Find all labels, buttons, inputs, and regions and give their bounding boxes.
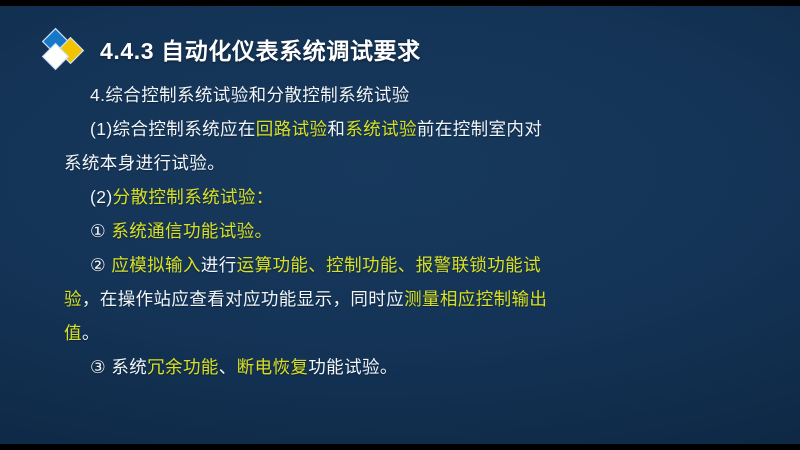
body-text: 和: [327, 119, 345, 139]
body-text: 。: [82, 323, 100, 343]
highlighted-text: 应模拟输入: [111, 255, 201, 275]
highlighted-text: 冗余功能: [147, 357, 219, 377]
body-line: ② 应模拟输入进行运算功能、控制功能、报警联锁功能试: [64, 248, 754, 282]
highlighted-text: 系统试验: [345, 119, 417, 139]
three-diamond-logo-icon: [42, 27, 94, 71]
body-line: 验，在操作站应查看对应功能显示，同时应测量相应控制输出: [64, 282, 754, 316]
body-text: (1)综合控制系统应在: [90, 119, 256, 139]
highlighted-text: 验: [64, 289, 82, 309]
body-text: ③ 系统: [90, 357, 147, 377]
body-line: (2)分散控制系统试验：: [64, 180, 754, 214]
body-text: 、: [219, 357, 237, 377]
highlighted-text: 回路试验: [256, 119, 328, 139]
highlighted-text: 测量相应控制输出: [404, 289, 547, 309]
body-text: 系统本身进行试验。: [64, 153, 225, 173]
slide-canvas: 4.4.3 自动化仪表系统调试要求 4.综合控制系统试验和分散控制系统试验(1)…: [0, 0, 800, 450]
body-line: 系统本身进行试验。: [64, 146, 754, 180]
page-title: 4.4.3 自动化仪表系统调试要求: [100, 32, 421, 66]
body-text: 进行: [201, 255, 237, 275]
body-text: 功能试验。: [308, 357, 398, 377]
body-text: (2): [90, 187, 113, 207]
highlighted-text: 值: [64, 323, 82, 343]
highlighted-text: 分散控制系统试验：: [113, 187, 274, 207]
highlighted-text: 系统通信功能试验。: [111, 221, 272, 241]
body-line: (1)综合控制系统应在回路试验和系统试验前在控制室内对: [64, 112, 754, 146]
letterbox-top: [0, 0, 800, 6]
body-text: ②: [90, 255, 111, 275]
body-text: ，在操作站应查看对应功能显示，同时应: [82, 289, 404, 309]
body-text: ①: [90, 221, 111, 241]
letterbox-bottom: [0, 444, 800, 450]
body-line: ③ 系统冗余功能、断电恢复功能试验。: [64, 350, 754, 384]
body-line: ① 系统通信功能试验。: [64, 214, 754, 248]
body-text: 前在控制室内对: [417, 119, 542, 139]
body-text: 4.综合控制系统试验和分散控制系统试验: [90, 85, 410, 105]
body-line: 4.综合控制系统试验和分散控制系统试验: [64, 78, 754, 112]
slide-body: 4.综合控制系统试验和分散控制系统试验(1)综合控制系统应在回路试验和系统试验前…: [64, 78, 754, 384]
body-line: 值。: [64, 316, 754, 350]
slide-header: 4.4.3 自动化仪表系统调试要求: [42, 27, 421, 71]
highlighted-text: 断电恢复: [237, 357, 309, 377]
highlighted-text: 运算功能、控制功能、报警联锁功能试: [237, 255, 541, 275]
